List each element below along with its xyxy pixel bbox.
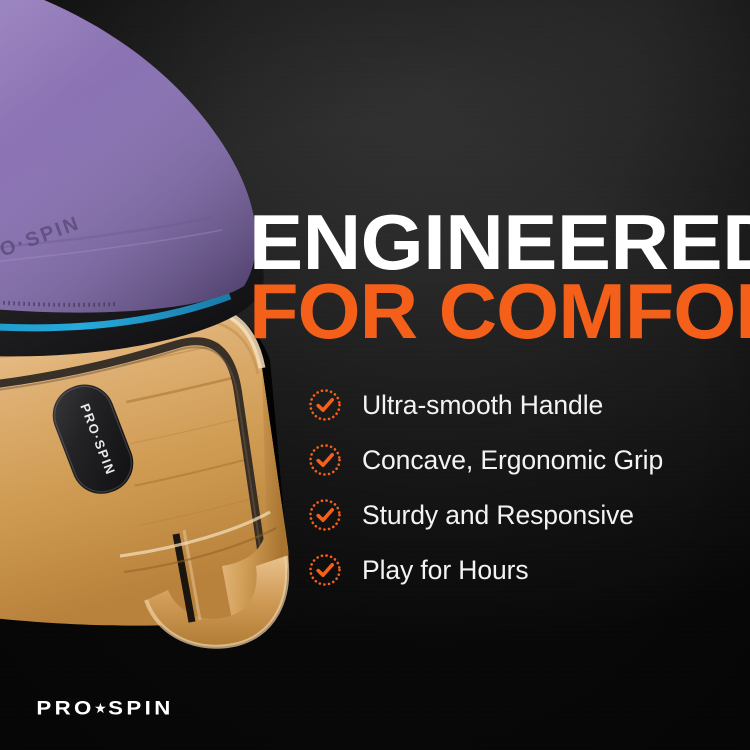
feature-item: Ultra-smooth Handle xyxy=(308,386,708,424)
feature-item: Sturdy and Responsive xyxy=(308,496,708,534)
feature-item: Concave, Ergonomic Grip xyxy=(308,441,708,479)
brand-logo-word-pro: PRO xyxy=(36,698,94,720)
check-circle-dotted-icon xyxy=(308,443,342,477)
brand-logo-word-spin: SPIN xyxy=(108,698,174,720)
feature-list: Ultra-smooth Handle Concave, Ergonomic G… xyxy=(308,386,708,606)
product-feature-graphic: PRO·SPIN PRO·SPIN xyxy=(0,0,750,750)
feature-label: Play for Hours xyxy=(362,555,529,586)
feature-label: Sturdy and Responsive xyxy=(362,500,634,531)
check-circle-dotted-icon xyxy=(308,388,342,422)
check-circle-dotted-icon xyxy=(308,498,342,532)
feature-label: Ultra-smooth Handle xyxy=(362,390,603,421)
feature-item: Play for Hours xyxy=(308,551,708,589)
headline: ENGINEERED FOR COMFORT xyxy=(249,207,719,345)
feature-label: Concave, Ergonomic Grip xyxy=(362,445,663,476)
star-icon: ★ xyxy=(94,701,107,715)
brand-logo: PRO ★ SPIN xyxy=(38,697,172,721)
headline-line-2: FOR COMFORT xyxy=(249,276,738,346)
paddle-rubber-face: PRO·SPIN xyxy=(0,0,256,313)
check-circle-dotted-icon xyxy=(308,553,342,587)
